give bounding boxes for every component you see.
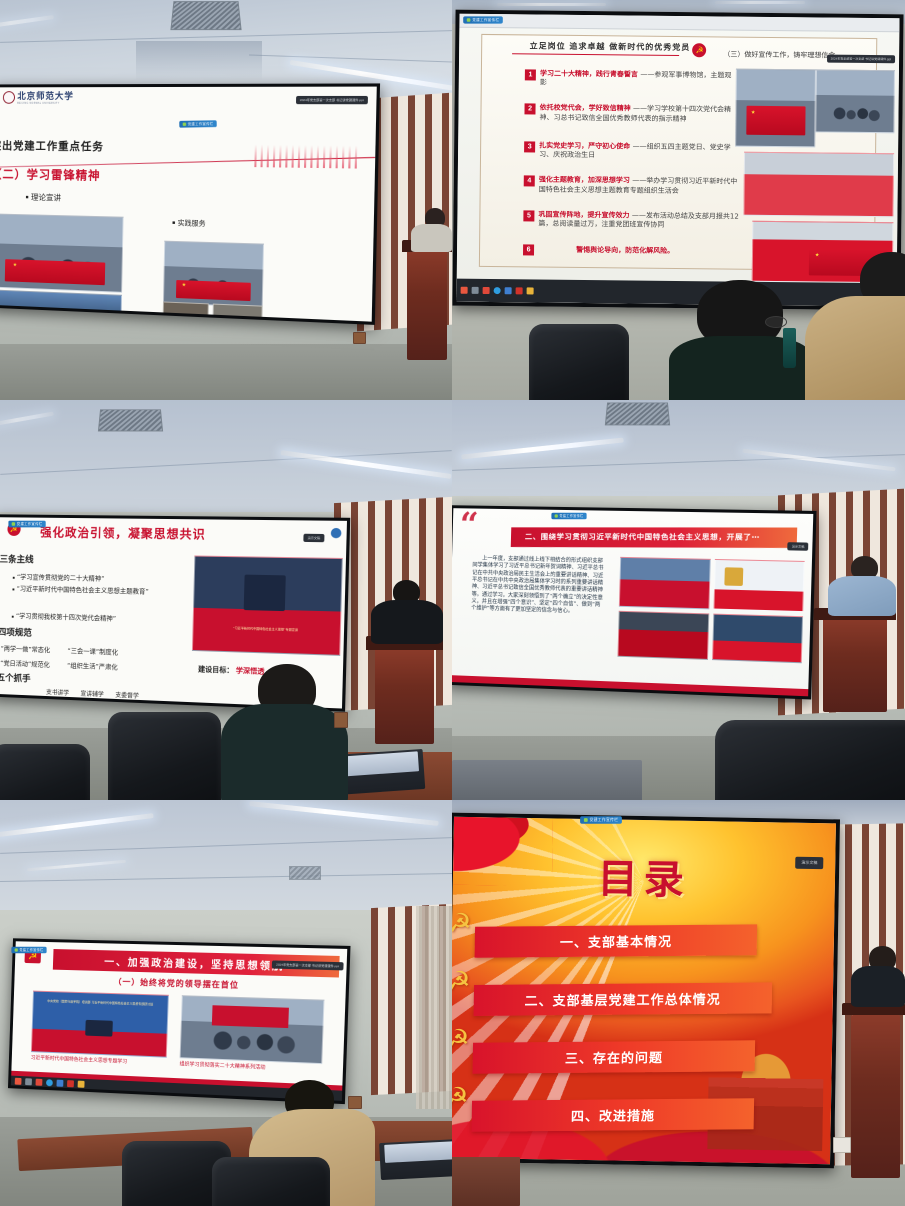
skyline-decoration-icon — [254, 144, 359, 168]
chair — [0, 744, 90, 800]
ceiling-light — [715, 1, 806, 4]
ceiling-seam — [249, 54, 452, 62]
presentation-slide: 目录 ☭ 一、支部基本情况 ☭ 二、支部基层党建工作总体情况 ☭ 三、存在的问题… — [452, 817, 836, 1165]
slide-photo-left: 中央党校（国家行政学院）培训部 习近平新时代中国特色社会主义思想专题研讨班 — [30, 991, 168, 1057]
watermark-badge: 党建工作宣传栏 — [463, 16, 503, 23]
inset-screen — [212, 1005, 289, 1028]
inset-speaker — [85, 1020, 112, 1036]
group-1-item-3: ▪ “学习贯彻我校第十四次党代会精神” — [12, 610, 117, 623]
panel-top-left: 北京师范大学 BEIJING NORMAL UNIVERSITY 突出党建工作重… — [0, 0, 452, 400]
window-title-tab[interactable]: 2024年党支部第一次支部 书记讲党课课件.ppt — [827, 55, 896, 64]
mail-icon[interactable] — [56, 1079, 63, 1086]
slide-heading: 强化政治引领，凝聚思想共识 — [40, 524, 206, 543]
browser-icon[interactable] — [46, 1079, 53, 1086]
wps-icon[interactable] — [483, 287, 490, 294]
group-label-1: 三条主线 — [0, 553, 34, 566]
presentation-slide: “ 二、围绕学习贯彻习近平新时代中国特色社会主义思想，开展了⋯ 上一年度，支部通… — [452, 508, 813, 696]
university-logo-subtext: BEIJING NORMAL UNIVERSITY — [17, 102, 73, 105]
photo-caption-1: 习近平新时代中国特色社会主义思想专题学习 — [30, 1055, 166, 1067]
watermark-badge: 党建工作宣传栏 — [180, 120, 218, 128]
attendee-body-jacket — [828, 576, 896, 616]
podium — [823, 616, 886, 712]
led-display: 目录 ☭ 一、支部基本情况 ☭ 二、支部基层党建工作总体情况 ☭ 三、存在的问题… — [452, 813, 840, 1169]
slide-photo — [618, 610, 710, 659]
desk — [452, 760, 642, 800]
glasses-icon — [765, 316, 788, 328]
group-label-3: 五个抓手 — [0, 671, 31, 685]
toc-item-3[interactable]: 三、存在的问题 — [473, 1040, 756, 1073]
attendee-body — [221, 704, 348, 800]
photo-collage: 北京师范大学 BEIJING NORMAL UNIVERSITY 突出党建工作重… — [0, 0, 905, 1206]
wall-outlet — [334, 712, 348, 728]
slide-banner-bar: 二、围绕学习贯彻习近平新时代中国特色社会主义思想，开展了⋯ — [511, 527, 798, 547]
slide-bullet-2: ▪ 实践服务 — [172, 218, 206, 229]
air-vent-icon — [605, 402, 671, 425]
bullet-icon: ▪ — [13, 574, 16, 579]
slide-subheading: （二）学习雷锋精神 — [0, 166, 101, 184]
slide-photo — [815, 69, 895, 133]
party-emblem-icon: ☭ — [452, 1086, 469, 1107]
list-text: 强化主题教育，加深思想学习 ——举办学习贯彻习近平新时代中国特色社会主义思想主题… — [539, 176, 744, 197]
slide-photo — [713, 559, 804, 612]
ceiling-seam — [0, 451, 451, 476]
slide-banner-text: 一、加强政治建设，坚持思想领航 — [104, 954, 285, 974]
ceiling-light — [461, 437, 624, 459]
chair — [715, 720, 905, 800]
ceiling-seam — [0, 838, 452, 855]
presenter-body — [411, 224, 452, 252]
air-vent-icon — [170, 1, 241, 30]
presenter-body — [371, 600, 443, 644]
quote-mark-icon: “ — [459, 508, 475, 542]
start-icon[interactable] — [461, 287, 468, 294]
window-title-tab[interactable]: 演示文稿 — [787, 543, 808, 552]
slide-banner-text: 二、围绕学习贯彻习近平新时代中国特色社会主义思想，开展了⋯ — [525, 532, 760, 544]
led-display: 立足岗位 追求卓越 做新时代的优秀党员 ☭ （三）做好宣传工作，铸牢理想信念 1… — [453, 10, 905, 311]
party-emblem-icon: ☭ — [452, 970, 471, 991]
slide-photo — [712, 613, 803, 663]
party-flag-icon — [5, 260, 106, 286]
toc-item-2[interactable]: 二、支部基层党建工作总体情况 — [474, 982, 772, 1015]
list-item: 6 警惕舆论导向，防范化解风险。 — [523, 245, 735, 258]
list-item: 5 巩固宣传阵地，提升宣传效力 ——发布活动总结及支部月报共12篇，总阅读量过万… — [524, 210, 744, 231]
ceiling-light — [0, 411, 54, 426]
led-display: 北京师范大学 BEIJING NORMAL UNIVERSITY 突出党建工作重… — [0, 83, 380, 324]
group-1-item-1: ▪ “学习宣传贯彻党的二十大精神” — [13, 571, 105, 583]
slide-photo — [744, 152, 894, 217]
slide-photo — [619, 557, 711, 609]
watermark-badge: 党建工作宣传栏 — [580, 816, 622, 824]
presentation-slide: ☭ 一、加强政治建设，坚持思想领航 （一）始终将党的领导摆在首位 中央党校（国家… — [10, 941, 346, 1101]
ceiling — [452, 400, 905, 504]
party-emblem-icon: ☭ — [452, 912, 472, 933]
slide-banner: 立足岗位 追求卓越 做新时代的优秀党员 — [530, 40, 691, 53]
list-text: 扎实党史学习，严守初心使命 ——组织五四主题党日、党史学习、庆祝政治生日 — [539, 141, 736, 162]
inset-caption: “习近平新时代中国特色社会主义思想”专题宣讲 — [199, 626, 334, 634]
watermark-badge: 党建工作宣传栏 — [11, 947, 46, 953]
presenter-body — [851, 966, 905, 1007]
speaker-box — [452, 1157, 520, 1206]
chair — [529, 324, 629, 400]
group-2-row-2: “党日活动”规范化 “组织生活”严肃化 — [1, 657, 119, 671]
presentation-slide: 立足岗位 追求卓越 做新时代的优秀党员 ☭ （三）做好宣传工作，铸牢理想信念 1… — [457, 14, 900, 307]
slide-inset-photo: “习近平新时代中国特色社会主义思想”专题宣讲 — [192, 556, 343, 656]
group-2-row-1: “两学一做”常态化 “三会一课”制度化 — [1, 643, 119, 657]
party-flag-icon — [175, 280, 250, 301]
slide-bullet-1: ▪ 理论宣讲 — [25, 192, 61, 203]
slide-photo — [0, 213, 123, 292]
party-emblem-icon: ☭ — [452, 1028, 470, 1049]
group-label-2: 四项规范 — [0, 625, 32, 639]
chair — [108, 712, 221, 800]
list-number: 4 — [524, 176, 535, 187]
wall-outlet — [833, 1137, 851, 1153]
wall-outlet — [353, 332, 367, 344]
window-title-tab[interactable]: 2024年党支部第一次支部 书记讲党课课件.ppt — [295, 96, 368, 104]
ceiling — [0, 800, 452, 914]
slide-photo — [736, 68, 816, 147]
window-title-tab[interactable]: 演示文稿 — [796, 857, 824, 869]
chair — [212, 1157, 330, 1206]
list-item: 1 学习二十大精神，践行青春誓言 ——参观军事博物馆，主题观影 — [525, 69, 737, 90]
bullet-icon: ▪ — [12, 613, 15, 618]
list-text: 依托校党代会，学好致信精神 ——学习学校第十四次党代会精神、习总书记致信全国优秀… — [540, 104, 745, 125]
folder-icon[interactable] — [527, 287, 534, 294]
panel-middle-right: “ 二、围绕学习贯彻习近平新时代中国特色社会主义思想，开展了⋯ 上一年度，支部通… — [452, 400, 905, 800]
statue-icon — [724, 567, 744, 586]
powerpoint-toolbar — [460, 14, 901, 33]
slide-section-label: （三）做好宣传工作，铸牢理想信念 — [724, 50, 836, 61]
list-item: 3 扎实党史学习，严守初心使命 ——组织五四主题党日、党史学习、庆祝政治生日 — [524, 141, 736, 162]
laptop-screen — [339, 752, 420, 777]
curtain — [416, 906, 452, 1109]
toc-item-1[interactable]: 一、支部基本情况 — [475, 924, 758, 957]
podium — [407, 248, 448, 360]
group-3-row: 支书讲学 宣讲辅学 支委督学 — [46, 687, 139, 700]
watermark-badge: 党建工作宣传栏 — [552, 513, 587, 519]
ceiling-light — [27, 859, 126, 871]
ceiling-seam — [0, 873, 452, 882]
led-display: ☭ 一、加强政治建设，坚持思想领航 （一）始终将党的领导摆在首位 中央党校（国家… — [7, 938, 350, 1104]
slide-title: 目录 — [453, 844, 836, 909]
toc-item-4[interactable]: 四、改进措施 — [472, 1098, 755, 1131]
party-flag-icon — [746, 106, 805, 135]
user-avatar[interactable] — [331, 528, 342, 538]
ceiling-light — [497, 3, 606, 6]
led-display: “ 二、围绕学习贯彻习近平新时代中国特色社会主义思想，开展了⋯ 上一年度，支部通… — [452, 505, 816, 699]
explorer-icon[interactable] — [472, 287, 479, 294]
mail-icon[interactable] — [505, 287, 512, 294]
panel-top-right: 立足岗位 追求卓越 做新时代的优秀党员 ☭ （三）做好宣传工作，铸牢理想信念 1… — [452, 0, 905, 400]
panel-bottom-left: ☭ 一、加强政治建设，坚持思想领航 （一）始终将党的领导摆在首位 中央党校（国家… — [0, 800, 452, 1206]
list-text: 警惕舆论导向，防范化解风险。 — [576, 245, 674, 256]
water-bottle — [783, 328, 797, 368]
bullet-icon: ▪ — [12, 587, 15, 592]
university-logo-text: 北京师范大学 — [17, 89, 74, 102]
list-number: 2 — [525, 104, 536, 115]
watermark-badge: 党建工作宣传栏 — [8, 521, 45, 528]
folder-icon[interactable] — [77, 1080, 84, 1087]
audience-body-jacket — [805, 296, 905, 400]
explorer-icon[interactable] — [25, 1078, 32, 1085]
ceiling-light — [0, 813, 153, 838]
ceiling-seam — [136, 41, 263, 81]
list-text: 巩固宣传阵地，提升宣传效力 ——发布活动总结及支部月报共12篇，总阅读量过万，注… — [539, 210, 744, 231]
university-logo: 北京师范大学 BEIJING NORMAL UNIVERSITY — [2, 89, 74, 105]
inset-title: 中央党校（国家行政学院）培训部 习近平新时代中国特色社会主义思想专题研讨班 — [41, 999, 159, 1007]
ceiling-light — [0, 15, 54, 29]
start-icon[interactable] — [14, 1077, 21, 1084]
group-1-item-2: ▪ “习近平新时代中国特色社会主义思想主题教育” — [12, 585, 211, 599]
slide-photo-right — [179, 996, 324, 1064]
podium — [851, 1015, 901, 1177]
wps-icon[interactable] — [35, 1078, 42, 1085]
inset-speaker — [244, 575, 286, 612]
ceiling-light — [742, 449, 895, 472]
list-number: 6 — [523, 245, 534, 256]
floor — [0, 344, 452, 400]
ceiling-light — [249, 801, 438, 826]
slide-photo — [163, 240, 265, 307]
laptop-screen — [384, 1141, 452, 1163]
slide-heading: 突出党建工作重点任务 — [0, 137, 104, 154]
ppt-icon[interactable] — [516, 287, 523, 294]
air-vent-icon — [98, 410, 164, 432]
list-number: 1 — [525, 69, 536, 80]
panel-bottom-right: 目录 ☭ 一、支部基本情况 ☭ 二、支部基层党建工作总体情况 ☭ 三、存在的问题… — [452, 800, 905, 1206]
list-text: 学习二十大精神，践行青春誓言 ——参观军事博物馆，主题观影 — [540, 69, 737, 90]
list-item: 4 强化主题教育，加深思想学习 ——举办学习贯彻习近平新时代中国特色社会主义思想… — [524, 176, 744, 197]
laptop — [379, 1139, 452, 1180]
slide-paragraph: 上一年度，支部通过线上线下相结合的形式组织支部同学集体学习了习近平总书记新年贺词… — [471, 556, 606, 617]
podium — [375, 648, 434, 744]
wall-outlet — [348, 1096, 362, 1108]
ppt-icon[interactable] — [67, 1080, 74, 1087]
bullet-icon: ▪ — [172, 220, 175, 226]
bullet-icon: ▪ — [25, 195, 28, 201]
list-number: 3 — [524, 141, 535, 152]
university-seal-icon — [2, 91, 14, 104]
window-title-tab[interactable]: 演示文稿 — [304, 533, 325, 541]
list-number: 5 — [524, 210, 535, 221]
panel-middle-left: ☭ 强化政治引领，凝聚思想共识 三条主线 ▪ “学习宣传贯彻党的二十大精神” ▪… — [0, 400, 452, 800]
list-item: 2 依托校党代会，学好致信精神 ——学习学校第十四次党代会精神、习总书记致信全国… — [525, 104, 745, 125]
air-vent-icon — [289, 866, 321, 880]
browser-icon[interactable] — [494, 287, 501, 294]
